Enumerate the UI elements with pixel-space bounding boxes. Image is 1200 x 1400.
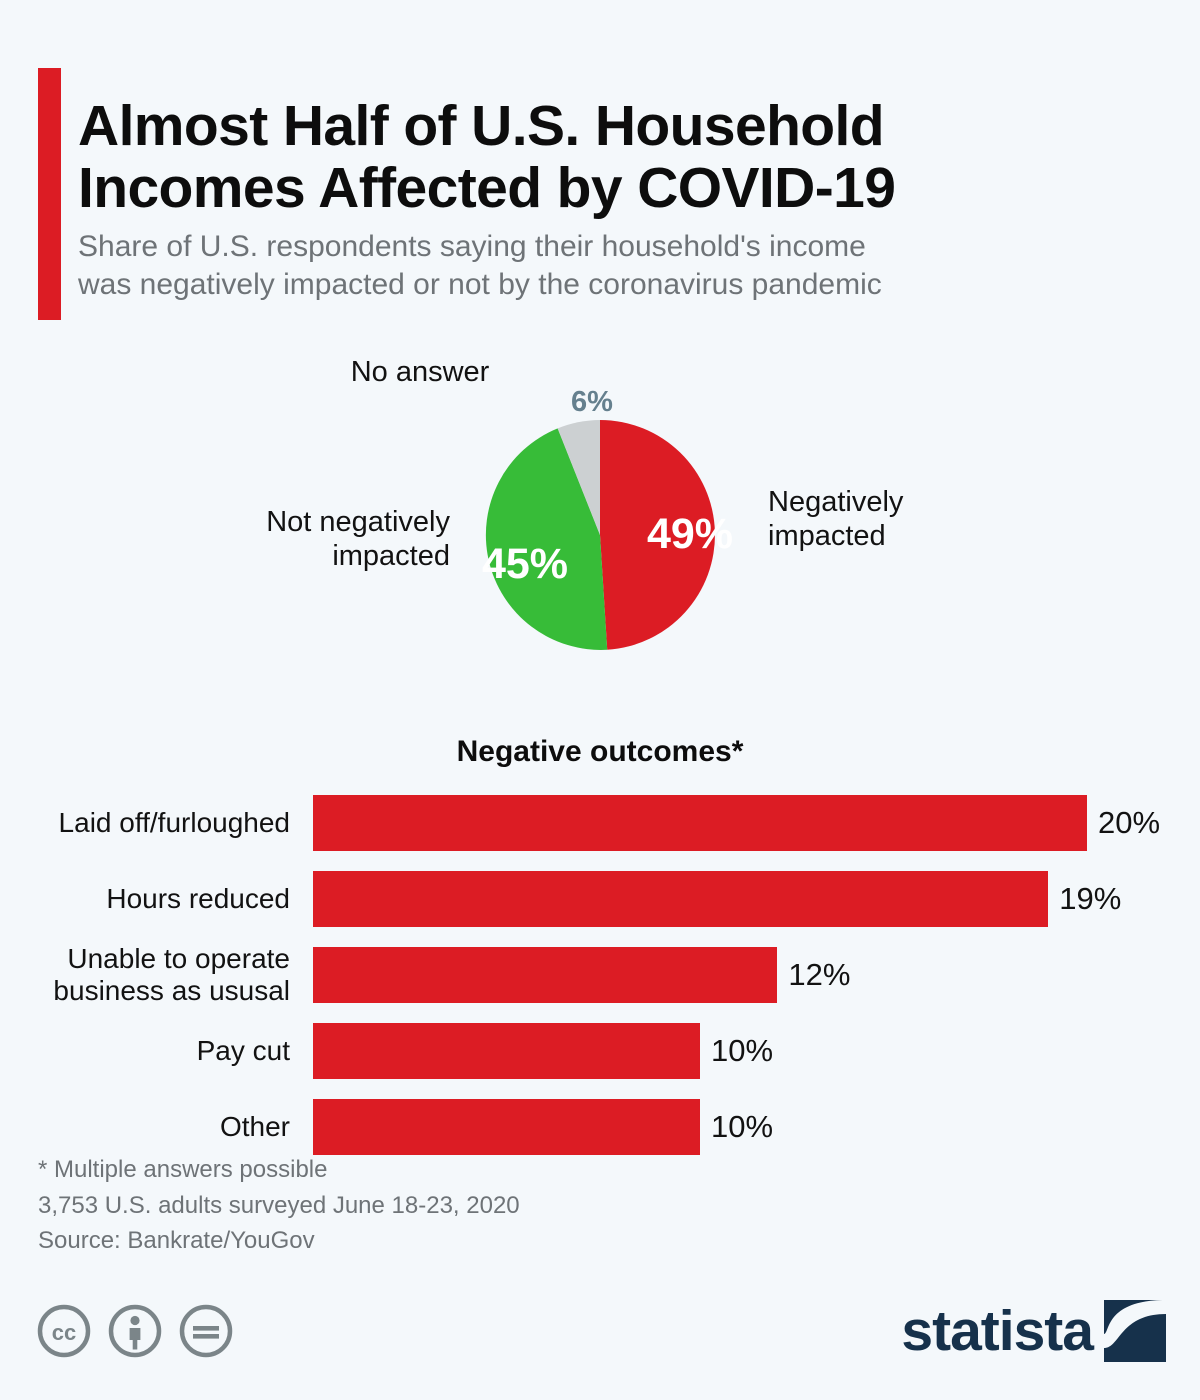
bar-row-label: Unable to operatebusiness as ususal bbox=[0, 937, 290, 1012]
pie-value-no-answer: 6% bbox=[537, 386, 647, 419]
bar-row: Unable to operatebusiness as ususal12% bbox=[0, 937, 1200, 1012]
bar-row-label-text: Pay cut bbox=[197, 1035, 290, 1066]
pie-label-not-negatively-impacted-line-1: Not negatively bbox=[266, 506, 450, 538]
bar-row-label: Hours reduced bbox=[0, 861, 290, 936]
page-title: Almost Half of U.S. Household Incomes Af… bbox=[78, 96, 1183, 219]
title-accent-bar bbox=[38, 68, 61, 320]
title-line-2: Incomes Affected by COVID-19 bbox=[78, 158, 1183, 220]
bar-track: 19% bbox=[313, 861, 1200, 936]
pie-chart-section: No answer Not negatively impacted Negati… bbox=[0, 350, 1200, 710]
pie-label-negatively-impacted-line-2: impacted bbox=[768, 520, 886, 552]
subtitle-line-2: was negatively impacted or not by the co… bbox=[78, 266, 1183, 304]
no-derivatives-icon bbox=[178, 1303, 234, 1359]
bar-value-label: 19% bbox=[1059, 881, 1121, 917]
statista-wordmark: statista bbox=[901, 1303, 1093, 1360]
footnote-sample-size: 3,753 U.S. adults surveyed June 18-23, 2… bbox=[38, 1188, 938, 1224]
bar-track: 20% bbox=[313, 785, 1200, 860]
bar-track: 12% bbox=[313, 937, 1200, 1012]
bar-row: Laid off/furloughed20% bbox=[0, 785, 1200, 860]
pie-label-negatively-impacted: Negatively impacted bbox=[768, 485, 1068, 553]
bar-fill bbox=[313, 1099, 700, 1155]
bar-row-label: Pay cut bbox=[0, 1013, 290, 1088]
statista-mark-icon bbox=[1104, 1300, 1166, 1362]
creative-commons-license-icons: cc bbox=[36, 1303, 234, 1359]
bar-value-label: 12% bbox=[788, 957, 850, 993]
attribution-icon bbox=[107, 1303, 163, 1359]
creative-commons-icon: cc bbox=[36, 1303, 92, 1359]
bar-chart-section: Negative outcomes* Laid off/furloughed20… bbox=[0, 730, 1200, 1140]
bar-chart-rows: Laid off/furloughed20%Hours reduced19%Un… bbox=[0, 785, 1200, 1165]
pie-label-not-negatively-impacted-line-2: impacted bbox=[332, 540, 450, 572]
bar-row-label-text: Other bbox=[220, 1111, 290, 1142]
pie-label-negatively-impacted-line-1: Negatively bbox=[768, 486, 903, 518]
pie-label-no-answer: No answer bbox=[260, 355, 580, 389]
bar-value-label: 10% bbox=[711, 1109, 773, 1145]
bar-row-label-text: Hours reduced bbox=[106, 883, 290, 914]
bar-track: 10% bbox=[313, 1013, 1200, 1088]
bar-chart-heading: Negative outcomes* bbox=[0, 735, 1200, 769]
pie-label-not-negatively-impacted: Not negatively impacted bbox=[145, 505, 450, 573]
bar-fill bbox=[313, 947, 777, 1003]
footnotes: * Multiple answers possible 3,753 U.S. a… bbox=[38, 1152, 938, 1259]
footnote-multiple-answers: * Multiple answers possible bbox=[38, 1152, 938, 1188]
pie-value-negatively-impacted: 49% bbox=[620, 510, 760, 559]
bar-row-label-text-line-2: business as ususal bbox=[53, 975, 290, 1006]
header: Almost Half of U.S. Household Incomes Af… bbox=[0, 0, 1200, 340]
svg-text:cc: cc bbox=[52, 1320, 76, 1345]
bar-value-label: 20% bbox=[1098, 805, 1160, 841]
bar-row: Hours reduced19% bbox=[0, 861, 1200, 936]
bar-row-label: Laid off/furloughed bbox=[0, 785, 290, 860]
footnote-source: Source: Bankrate/YouGov bbox=[38, 1223, 938, 1259]
subtitle-line-1: Share of U.S. respondents saying their h… bbox=[78, 228, 1183, 266]
title-line-1: Almost Half of U.S. Household bbox=[78, 96, 1183, 158]
statista-logo: statista bbox=[901, 1300, 1166, 1362]
pie-value-not-negatively-impacted: 45% bbox=[455, 540, 595, 589]
bar-fill bbox=[313, 871, 1048, 927]
bar-fill bbox=[313, 1023, 700, 1079]
bar-fill bbox=[313, 795, 1087, 851]
bar-row: Pay cut10% bbox=[0, 1013, 1200, 1088]
page-subtitle: Share of U.S. respondents saying their h… bbox=[78, 228, 1183, 304]
bar-value-label: 10% bbox=[711, 1033, 773, 1069]
bar-row-label-text: Laid off/furloughed bbox=[59, 807, 290, 838]
bar-row-label-text: Unable to operate bbox=[67, 943, 290, 974]
